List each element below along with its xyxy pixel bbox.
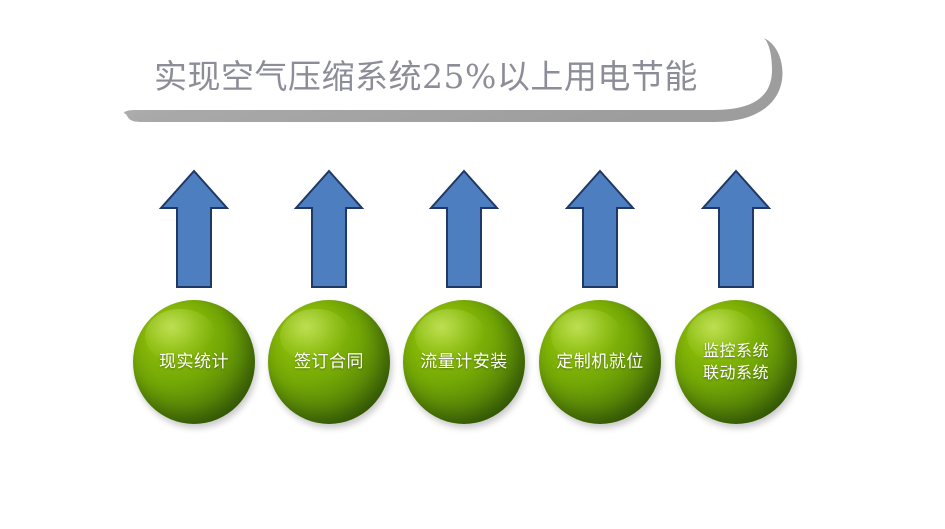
step-bubble[interactable]: 现实统计 <box>133 300 255 424</box>
process-step-2[interactable]: 签订合同 <box>265 168 393 430</box>
step-bubble[interactable]: 定制机就位 <box>539 300 661 424</box>
process-step-5[interactable]: 监控系统 联动系统 <box>672 168 800 430</box>
up-arrow-icon <box>700 168 772 290</box>
step-label: 签订合同 <box>268 300 390 424</box>
up-arrow-icon <box>158 168 230 290</box>
up-arrow-icon <box>428 168 500 290</box>
slide-canvas: 实现空气压缩系统25%以上用电节能 现实统计 签订合同 <box>0 0 945 529</box>
up-arrow-icon <box>293 168 365 290</box>
title-banner: 实现空气压缩系统25%以上用电节能 <box>118 36 778 136</box>
process-step-3[interactable]: 流量计安装 <box>400 168 528 430</box>
step-label: 流量计安装 <box>403 300 525 424</box>
process-step-1[interactable]: 现实统计 <box>130 168 258 430</box>
process-step-4[interactable]: 定制机就位 <box>536 168 664 430</box>
page-title: 实现空气压缩系统25%以上用电节能 <box>154 46 754 108</box>
step-bubble[interactable]: 签订合同 <box>268 300 390 424</box>
step-label: 现实统计 <box>133 300 255 424</box>
step-bubble[interactable]: 监控系统 联动系统 <box>675 300 797 424</box>
step-label: 定制机就位 <box>539 300 661 424</box>
up-arrow-icon <box>564 168 636 290</box>
step-label: 监控系统 联动系统 <box>675 300 797 424</box>
step-bubble[interactable]: 流量计安装 <box>403 300 525 424</box>
